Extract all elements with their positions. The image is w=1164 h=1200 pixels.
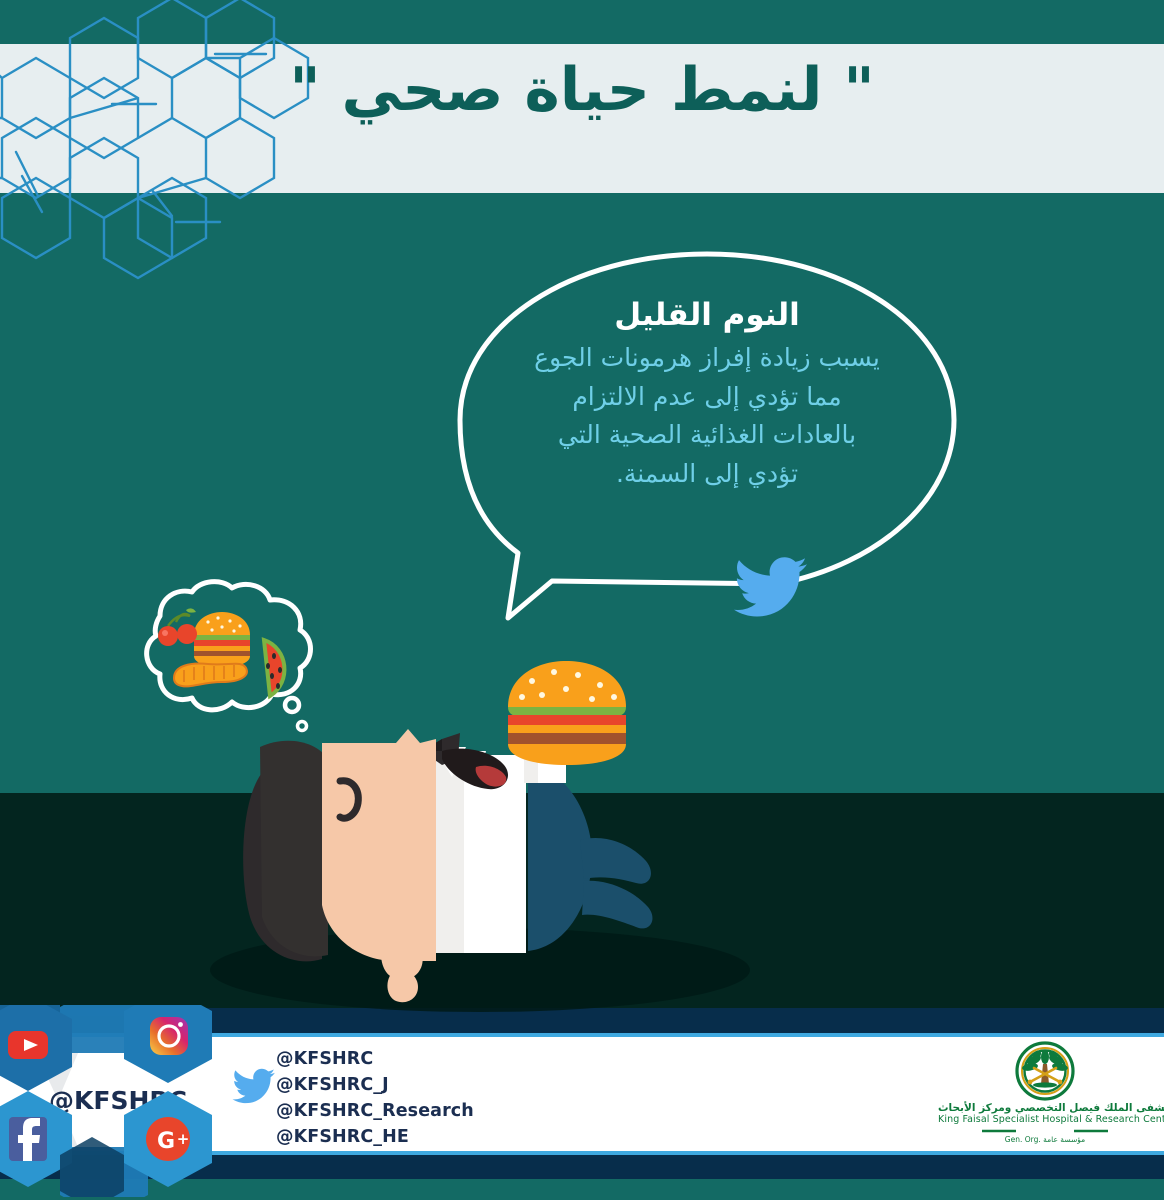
handle-item[interactable]: @KFSHRC_J: [276, 1072, 474, 1098]
twitter-bird-icon: [232, 1068, 276, 1104]
kfshrc-emblem-icon: [938, 1040, 1152, 1102]
kfshrc-logo: مستشفى الملك فيصل التخصصي ومركز الأبحاث …: [938, 1040, 1152, 1152]
logo-subtitle: Gen. Org. مؤسسة عامة: [938, 1136, 1152, 1145]
bubble-body-line: بالعادات الغذائية الصحية التي: [492, 416, 922, 455]
speech-bubble-heading: النوم القليل: [492, 296, 922, 335]
speech-bubble: النوم القليل يسبب زيادة إفراز هرمونات ال…: [452, 248, 962, 628]
svg-text:+: +: [177, 1130, 190, 1148]
bubble-body-line: يسبب زيادة إفراز هرمونات الجوع: [492, 339, 922, 378]
cherries-icon: [158, 608, 197, 646]
logo-name-english: King Faisal Specialist Hospital & Resear…: [938, 1114, 1152, 1125]
burger-icon: [508, 661, 626, 765]
twitter-bird-icon: [734, 556, 808, 618]
social-handles-list: @KFSHRC @KFSHRC_J @KFSHRC_Research @KFSH…: [276, 1046, 474, 1150]
handle-item[interactable]: @KFSHRC: [276, 1046, 474, 1072]
svg-text:G: G: [157, 1129, 175, 1154]
page-title: " لنمط حياة صحي ": [0, 56, 1164, 125]
bubble-body-line: تؤدي إلى السمنة.: [492, 455, 922, 494]
poster-root: " لنمط حياة صحي " النوم القليل يسبب زياد…: [0, 0, 1164, 1200]
speech-bubble-text: النوم القليل يسبب زيادة إفراز هرمونات ال…: [492, 296, 922, 494]
sleeping-character: [236, 655, 716, 1005]
logo-name-arabic: مستشفى الملك فيصل التخصصي ومركز الأبحاث: [938, 1102, 1152, 1114]
handle-item[interactable]: @KFSHRC_HE: [276, 1124, 474, 1150]
speech-bubble-body: يسبب زيادة إفراز هرمونات الجوع مما تؤدي …: [492, 339, 922, 494]
handle-item[interactable]: @KFSHRC_Research: [276, 1098, 474, 1124]
top-teal-band: [0, 0, 1164, 44]
bubble-body-line: مما تؤدي إلى عدم الالتزام: [492, 378, 922, 417]
footer-social-hexagons: @KFSHRC: [0, 1005, 268, 1197]
